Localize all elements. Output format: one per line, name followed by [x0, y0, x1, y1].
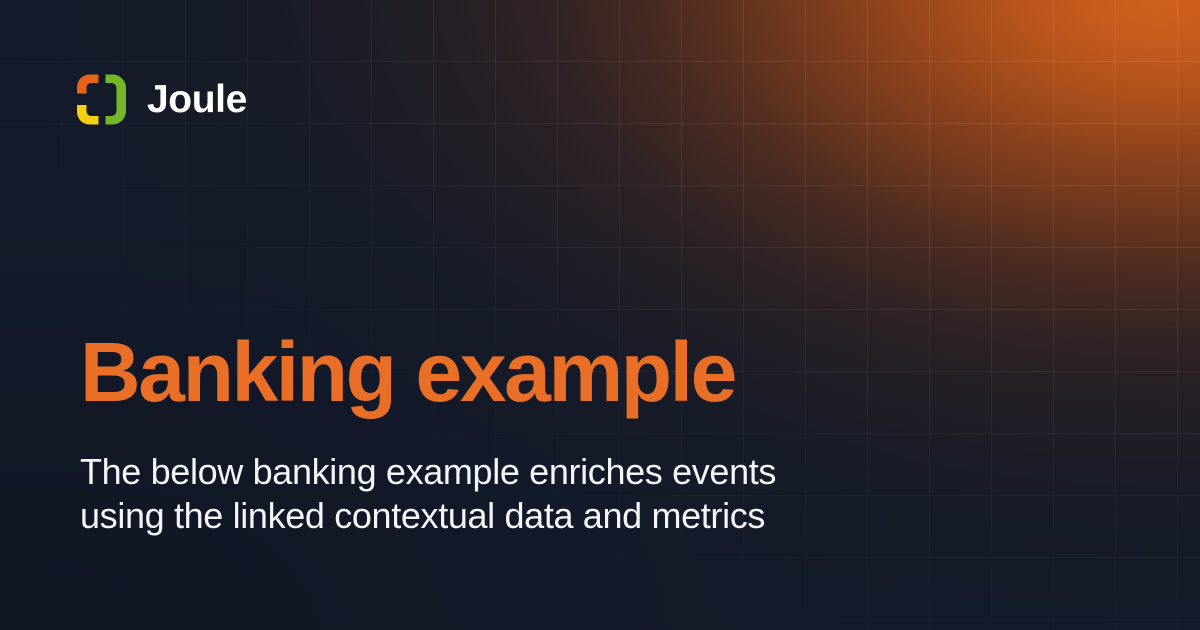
og-card: Joule Banking example The below banking … — [0, 0, 1200, 630]
page-subtitle: The below banking example enriches event… — [80, 450, 870, 539]
card-content: Joule Banking example The below banking … — [0, 0, 1200, 630]
joule-logo-mark-icon — [76, 73, 128, 126]
brand-lockup[interactable]: Joule — [76, 73, 247, 126]
hero-text-block: Banking example The below banking exampl… — [80, 330, 1110, 539]
brand-name-label: Joule — [147, 80, 247, 119]
page-title: Banking example — [80, 330, 1110, 416]
